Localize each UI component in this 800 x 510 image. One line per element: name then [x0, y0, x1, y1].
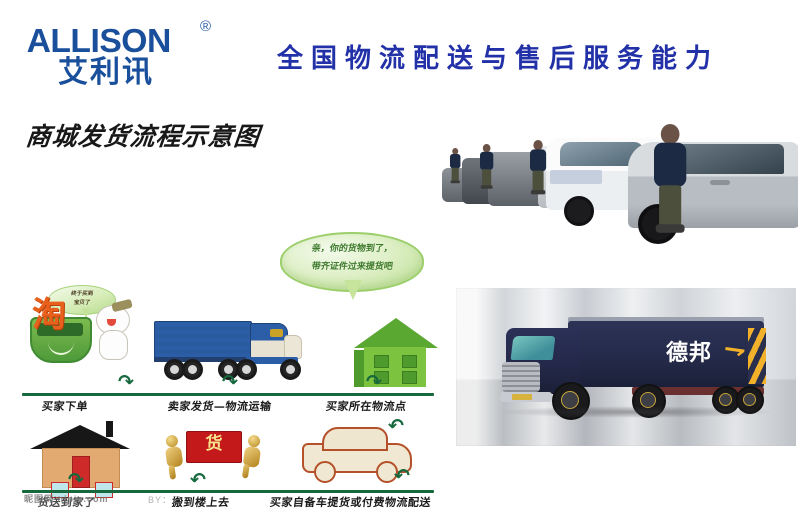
taobao-character-icon: 淘	[32, 298, 66, 332]
shopper-figure-icon	[90, 305, 134, 361]
flow-arrow-icon: ↷	[68, 471, 84, 490]
truck-grille	[502, 362, 540, 392]
flow-arrow-icon: ↷	[222, 373, 238, 392]
watermark-credit: BY：三	[148, 493, 182, 506]
step-label-bottom-3: 买家自备车提货或付费物流配送	[269, 494, 432, 510]
step-label-top-2: 卖家发货—物流运输	[167, 398, 272, 414]
registered-trademark-icon: ®	[200, 18, 211, 35]
truck-wheel	[182, 359, 203, 380]
green-house-window	[402, 371, 417, 384]
step-label-top-3: 买家所在物流点	[325, 398, 407, 414]
truck-wheel	[280, 359, 301, 380]
flow-arrow-icon: ↷	[118, 373, 134, 392]
cargo-box-icon: 货	[186, 431, 242, 463]
diagram-heading: 商城发货流程示意图	[24, 117, 262, 153]
deppon-logistics-truck-photo: 德邦 ⇁	[456, 288, 796, 446]
truck-window	[270, 329, 283, 337]
green-house-icon	[352, 310, 438, 388]
service-vehicle-fleet-photo	[442, 108, 798, 283]
truck-windshield	[511, 336, 556, 360]
porters-icon: 货	[164, 427, 264, 485]
sketch-car-roof	[322, 427, 388, 451]
truck-hazard-stripes	[748, 328, 766, 384]
delivery-notice-bubble-line2: 带齐证件过来提货吧	[281, 261, 423, 275]
fleet-suv-wheel	[564, 196, 594, 226]
flow-arrow-icon: ↶	[394, 467, 410, 486]
basket-smile-icon	[48, 341, 74, 355]
fleet-sedan-handle	[710, 180, 730, 185]
watermark-logo: 昵图网 nipic.com	[24, 492, 109, 505]
truck-wheel	[236, 359, 257, 380]
porter-figure	[161, 434, 187, 478]
green-house-window	[374, 355, 389, 368]
company-logo: ALLISON ® 艾利讯	[28, 16, 213, 88]
flow-arrow-icon: ↶	[190, 471, 206, 490]
sketch-car-wheel	[314, 461, 336, 483]
bubble-tail-icon	[344, 280, 362, 300]
logo-english-text: ALLISON	[27, 24, 171, 57]
shipping-flow-diagram: 商城发货流程示意图 亲，你的货物到了， 带齐证件过来提货吧 终于买到 宝贝了 淘	[8, 105, 438, 425]
shopper-body	[99, 330, 128, 360]
semi-truck-icon	[154, 317, 304, 377]
step-label-top-1: 买家下单	[41, 398, 89, 414]
green-house-roof	[354, 318, 438, 348]
truck-cab	[250, 323, 288, 359]
cottage-roof	[30, 425, 130, 449]
truck-ground-shadow	[502, 406, 772, 418]
slide-root: ALLISON ® 艾利讯 全国物流配送与售后服务能力 商城发货流程示意图 亲，…	[0, 0, 800, 450]
flow-arrow-icon: ↷	[366, 373, 382, 392]
fleet-suv-door-decal	[550, 170, 602, 184]
page-title: 全国物流配送与售后服务能力	[238, 38, 758, 75]
truck-license-plate	[512, 394, 532, 400]
delivery-notice-bubble-line1: 亲，你的货物到了，	[281, 243, 423, 257]
truck-nose	[284, 335, 302, 359]
green-house-window	[402, 355, 417, 368]
porter-figure	[239, 434, 265, 478]
cargo-box-label: 货	[187, 436, 241, 453]
flow-rail-top	[22, 393, 434, 396]
truck-brand-mark-icon: ⇁	[722, 335, 747, 364]
logo-chinese-text: 艾利讯	[58, 58, 154, 88]
flow-arrow-icon: ↶	[388, 417, 404, 436]
truck-trailer	[154, 321, 252, 359]
